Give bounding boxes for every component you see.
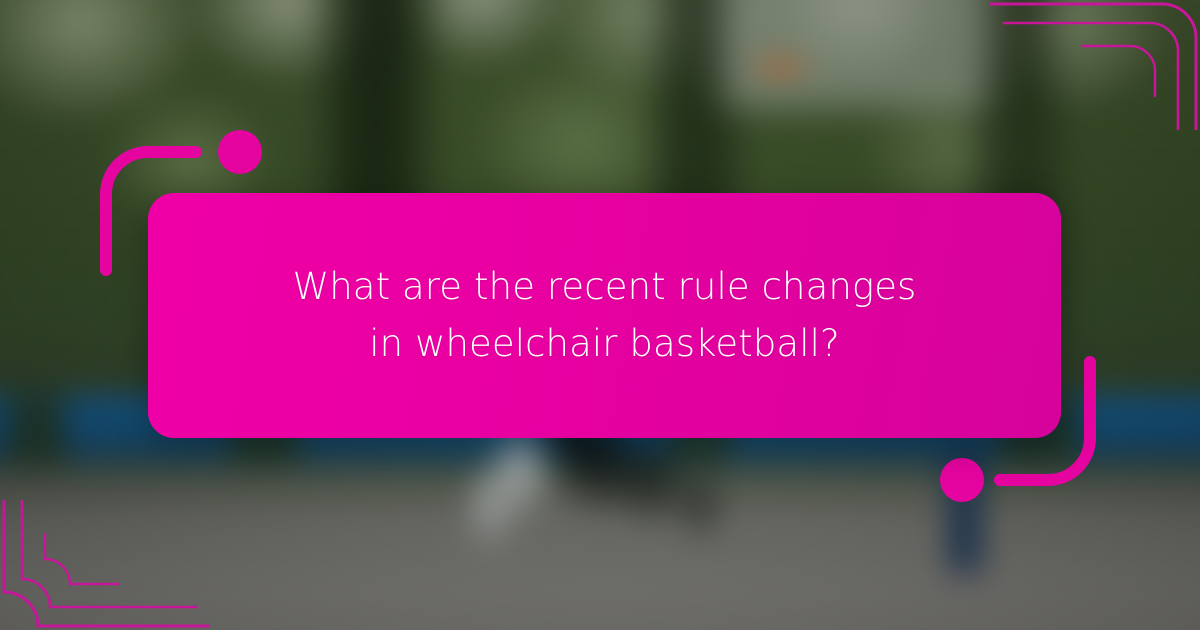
question-card[interactable]: What are the recent rule changes in whee…: [148, 193, 1061, 438]
accent-dot-bottom-right: [940, 458, 984, 502]
accent-dot-top-left: [218, 130, 262, 174]
question-text: What are the recent rule changes in whee…: [285, 259, 925, 371]
promo-card-canvas: What are the recent rule changes in whee…: [0, 0, 1200, 630]
